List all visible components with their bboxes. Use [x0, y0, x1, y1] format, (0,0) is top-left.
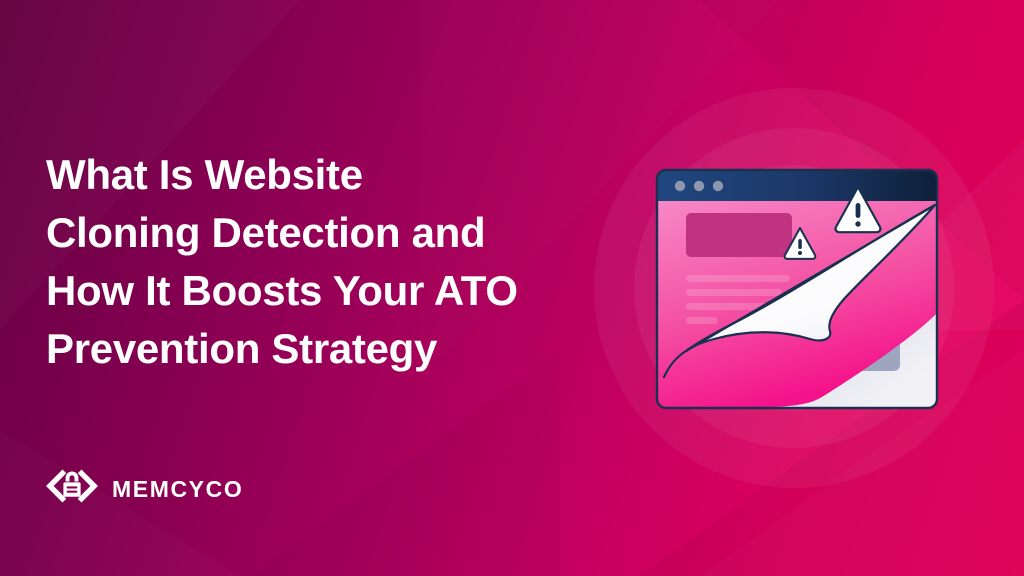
- window-dot-2: [694, 181, 704, 191]
- brand-logo: MEMCYCO: [46, 463, 243, 515]
- window-control-dots: [675, 181, 723, 191]
- page-title: What Is Website Cloning Detection and Ho…: [46, 146, 606, 378]
- browser-window-body: [657, 170, 937, 410]
- padlock-in-chevrons-icon: [46, 463, 98, 515]
- headline-line-4: Prevention Strategy: [46, 320, 606, 378]
- window-dot-1: [675, 181, 685, 191]
- headline-line-3: How It Boosts Your ATO: [46, 262, 606, 320]
- cloned-website-peel-illustration: [652, 165, 942, 413]
- window-dot-3: [713, 181, 723, 191]
- headline-line-1: What Is Website: [46, 146, 606, 204]
- headline-line-2: Cloning Detection and: [46, 204, 606, 262]
- blog-cover-banner: What Is Website Cloning Detection and Ho…: [0, 0, 1024, 576]
- logo-wordmark: MEMCYCO: [112, 476, 243, 503]
- pink-hero-block: [686, 213, 792, 257]
